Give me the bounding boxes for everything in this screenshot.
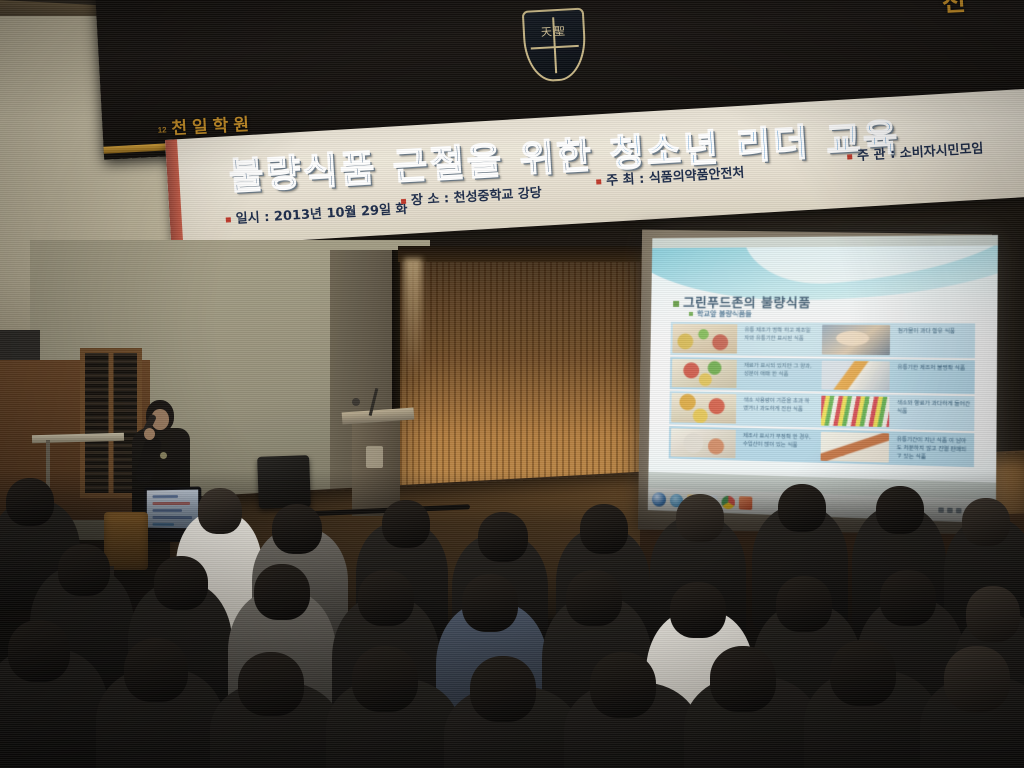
cell-text-right: 유통기간이 지난 식품 이 남아도 처분하지 않고 진열 판매되고 있는 식품 bbox=[893, 431, 974, 467]
cell-text-right: 색소와 향료가 과다하게 들어간 식품 bbox=[894, 395, 975, 431]
bullet-icon bbox=[596, 179, 601, 184]
attendee-head bbox=[124, 638, 188, 702]
attendee-head bbox=[462, 574, 518, 632]
attendee-head bbox=[880, 570, 936, 626]
event-place-label: 장 소 bbox=[411, 192, 440, 209]
cell-image-left bbox=[669, 426, 738, 461]
attendee-head bbox=[830, 640, 896, 706]
slide-bullet-icon bbox=[673, 300, 679, 306]
attendee-head bbox=[566, 570, 622, 626]
attendee-head bbox=[382, 500, 430, 548]
cell-text-left: 색소 사용량이 기준을 초과 하였거나 과도하게 진한 식품 bbox=[740, 392, 817, 427]
presenter-hand bbox=[144, 428, 155, 440]
slide-canvas: 그린푸드존의 불량식품 학교앞 불량식품들 유통 제조가 명확 하고 제조일자와… bbox=[648, 245, 997, 482]
cell-image-right bbox=[820, 323, 893, 357]
event-organizer-value: 소비자시민모임 bbox=[899, 141, 983, 161]
cell-image-right bbox=[819, 358, 892, 393]
snack-photo-icon bbox=[672, 324, 737, 353]
candy-stick-photo-icon bbox=[821, 360, 889, 390]
attendee-head bbox=[352, 646, 418, 712]
attendee-head bbox=[776, 576, 832, 632]
attendee-head bbox=[670, 582, 726, 638]
cell-text-left: 유통 제조가 명확 하고 제조일자와 유통기한 표시된 식품 bbox=[741, 322, 818, 356]
cell-text-left: 제조사 표시가 부정확 한 경우, 수입산이 많이 있는 식품 bbox=[740, 427, 817, 462]
bullet-icon bbox=[401, 199, 406, 204]
attendee-head bbox=[778, 484, 826, 532]
attendee-head bbox=[254, 564, 310, 620]
attendee-head bbox=[676, 494, 724, 542]
attendee-head bbox=[478, 512, 528, 562]
street-food-photo-icon bbox=[671, 393, 736, 423]
slide-subbullet-icon bbox=[689, 312, 693, 316]
cell-image-left bbox=[670, 356, 739, 390]
cell-text-right: 유통기한 제조처 불명확 식품 bbox=[894, 359, 975, 394]
attendee-head bbox=[944, 646, 1010, 712]
bullet-icon bbox=[847, 154, 852, 159]
event-organizer-label: 주 관 bbox=[857, 147, 886, 164]
attendee-head bbox=[58, 544, 110, 596]
cell-image-right bbox=[819, 394, 892, 429]
table-row: 재료가 표시되 있지만 그 양과, 성분이 애매 한 식품 유통기한 제조처 불… bbox=[670, 356, 975, 394]
slide-subtitle: 학교앞 불량식품들 bbox=[689, 309, 752, 319]
sausage-photo-icon bbox=[821, 431, 890, 462]
attendee-head bbox=[8, 620, 70, 682]
audience-crowd bbox=[0, 470, 1024, 768]
black-banner-left-small: 12 bbox=[157, 126, 166, 134]
auditorium-photo-scene: 天聖 12천일학원 천 불량식품 근절을 위한 청소년 리더 교육 일시 : 2… bbox=[0, 0, 1024, 768]
backdrop-light-streak bbox=[404, 258, 422, 378]
black-banner-right-text: 천 bbox=[941, 0, 1001, 19]
event-date-label: 일시 bbox=[235, 211, 260, 227]
cell-text-right: 첨가물이 과다 함유 식품 bbox=[894, 323, 975, 358]
hand-snack-photo-icon bbox=[822, 325, 890, 355]
table-row: 제조사 표시가 부정확 한 경우, 수입산이 많이 있는 식품 유통기간이 지난… bbox=[669, 426, 975, 467]
attendee-head bbox=[580, 504, 628, 554]
bullet-icon bbox=[226, 217, 231, 222]
slide-subtitle-text: 학교앞 불량식품들 bbox=[697, 310, 752, 318]
crest-characters: 天聖 bbox=[525, 22, 584, 41]
attendee-head bbox=[470, 656, 536, 722]
table-row: 색소 사용량이 기준을 초과 하였거나 과도하게 진한 식품 색소와 향료가 과… bbox=[669, 391, 974, 431]
table-row: 유통 제조가 명확 하고 제조일자와 유통기한 표시된 식품 첨가물이 과다 함… bbox=[670, 322, 975, 358]
lectern-mic-icon bbox=[352, 398, 360, 406]
attendee-head bbox=[238, 652, 304, 716]
presenter-badge bbox=[160, 452, 167, 459]
packaged-snacks-photo-icon bbox=[671, 428, 736, 459]
event-host-value: 식품의약품안전처 bbox=[648, 166, 744, 187]
candy-photo-icon bbox=[672, 358, 737, 388]
attendee-head bbox=[590, 652, 656, 718]
event-place-value: 천성중학교 강당 bbox=[453, 186, 542, 206]
event-date: 일시 : 2013년 10월 29일 화 bbox=[225, 198, 408, 228]
attendee-head bbox=[6, 478, 54, 526]
attendee-head bbox=[710, 646, 776, 712]
cell-image-left bbox=[669, 391, 738, 425]
slide-table: 유통 제조가 명확 하고 제조일자와 유통기한 표시된 식품 첨가물이 과다 함… bbox=[669, 322, 975, 467]
event-date-value: 2013년 10월 29일 화 bbox=[274, 202, 408, 225]
attendee-head bbox=[358, 570, 414, 626]
cell-image-right bbox=[818, 429, 891, 465]
cell-image-left bbox=[670, 322, 739, 355]
attendee-head bbox=[962, 498, 1010, 546]
school-crest-icon: 天聖 bbox=[522, 8, 588, 83]
cell-text-left: 재료가 표시되 있지만 그 양과, 성분이 애매 한 식품 bbox=[741, 357, 818, 391]
attendee-head bbox=[876, 486, 924, 534]
attendee-head bbox=[154, 556, 208, 610]
event-host-label: 주 최 bbox=[606, 172, 635, 189]
lectern-plaque bbox=[366, 446, 383, 468]
attendee-head bbox=[198, 488, 242, 534]
gummy-photo-icon bbox=[821, 396, 890, 427]
attendee-head bbox=[966, 586, 1020, 642]
backdrop-valance bbox=[398, 246, 654, 262]
attendee-head bbox=[272, 504, 322, 554]
